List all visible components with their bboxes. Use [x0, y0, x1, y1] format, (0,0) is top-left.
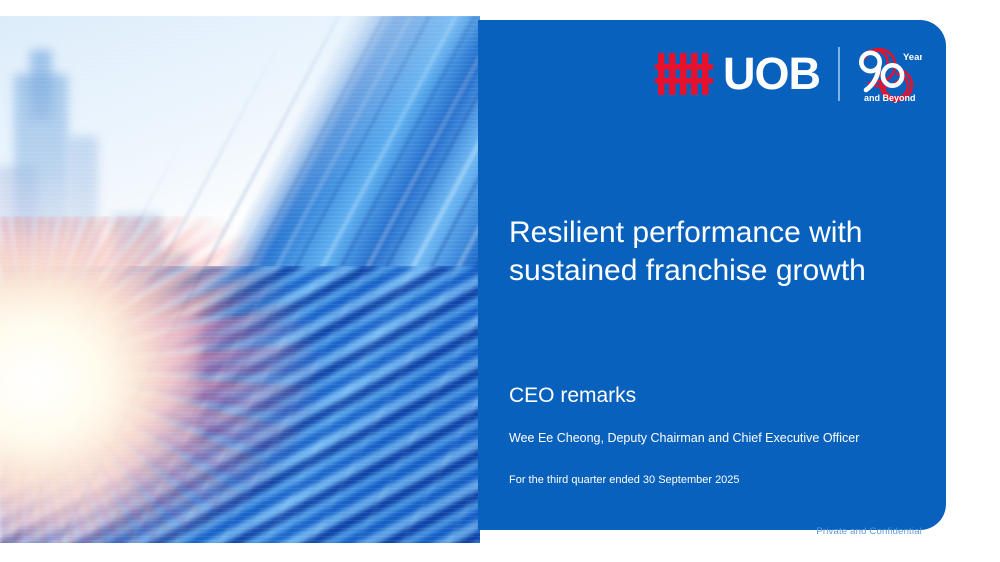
presentation-slide: UOB	[0, 0, 1000, 562]
confidentiality-notice: Private and Confidential	[816, 526, 922, 537]
motion-scanline-layer	[0, 16, 480, 543]
uob-wordmark: UOB	[723, 51, 820, 97]
blurred-city-light-burst-image	[0, 16, 480, 543]
reporting-period: For the third quarter ended 30 September…	[509, 474, 740, 486]
logo-divider	[838, 47, 840, 101]
uob-bars-icon	[655, 51, 713, 97]
section-label: CEO remarks	[509, 384, 636, 408]
page-title: Resilient performance with sustained fra…	[509, 214, 909, 291]
anniversary-90-icon: Years and Beyond	[856, 43, 922, 105]
anniversary-years-label: Years	[903, 52, 922, 63]
brand-logo-lockup: UOB	[655, 36, 922, 112]
anniversary-tagline: and Beyond	[864, 93, 916, 103]
speaker-byline: Wee Ee Cheong, Deputy Chairman and Chief…	[509, 431, 859, 445]
